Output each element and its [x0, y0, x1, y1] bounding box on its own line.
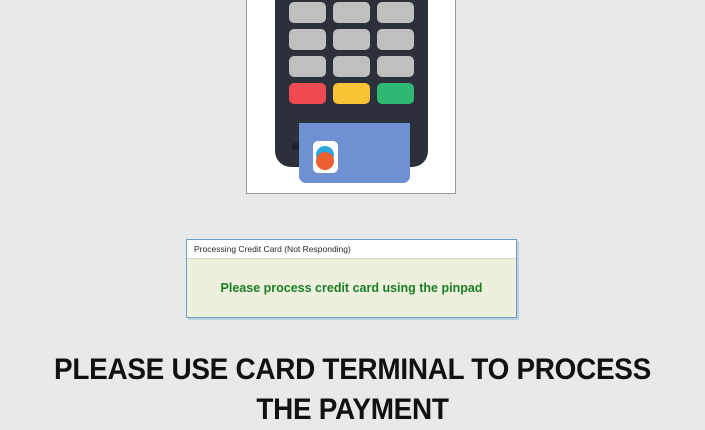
terminal-keypad: [289, 0, 414, 104]
dialog-body: Please process credit card using the pin…: [187, 259, 516, 317]
clear-key: [333, 83, 370, 104]
card-terminal-image-frame: [246, 0, 456, 194]
headline-line-2: THE PAYMENT: [25, 390, 681, 430]
headline-line-1: PLEASE USE CARD TERMINAL TO PROCESS: [25, 350, 681, 390]
keypad-key: [289, 56, 326, 77]
processing-credit-card-dialog[interactable]: Processing Credit Card (Not Responding) …: [186, 239, 517, 318]
card-chip-icon: [313, 141, 338, 173]
chip-circle-orange: [316, 152, 334, 170]
enter-key: [377, 83, 414, 104]
dialog-title-bar[interactable]: Processing Credit Card (Not Responding): [187, 240, 516, 259]
keypad-key: [377, 29, 414, 50]
keypad-key: [377, 2, 414, 23]
keypad-key: [333, 2, 370, 23]
payment-card: [299, 123, 410, 183]
keypad-key: [333, 56, 370, 77]
cancel-key: [289, 83, 326, 104]
keypad-key: [289, 29, 326, 50]
keypad-key: [289, 2, 326, 23]
instruction-headline: PLEASE USE CARD TERMINAL TO PROCESS THE …: [25, 350, 681, 430]
dialog-title: Processing Credit Card (Not Responding): [194, 244, 351, 254]
dialog-message: Please process credit card using the pin…: [221, 281, 483, 295]
keypad-key: [333, 29, 370, 50]
keypad-key: [377, 56, 414, 77]
